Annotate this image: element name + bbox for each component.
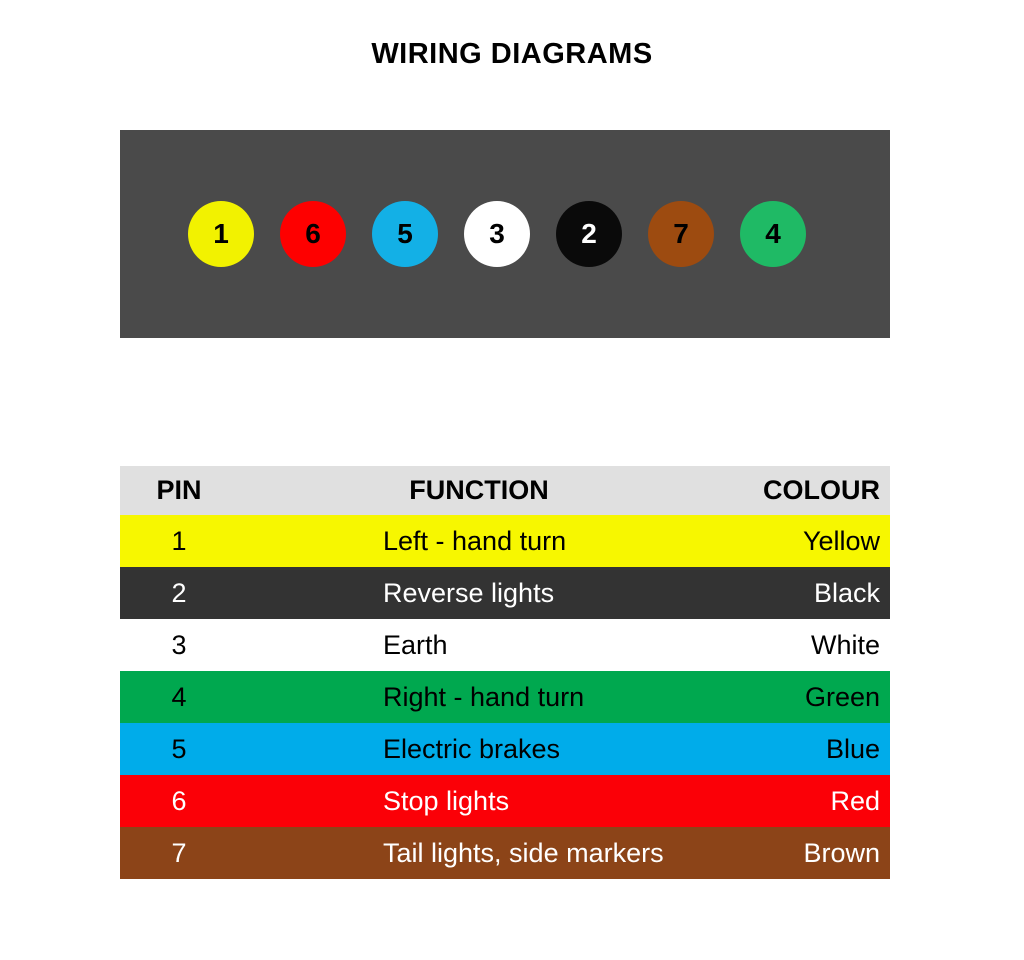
pin-circle-1[interactable]: 1 xyxy=(188,201,254,267)
cell-pin: 6 xyxy=(120,775,238,827)
pin-circle-5[interactable]: 5 xyxy=(372,201,438,267)
table-body: 1Left - hand turnYellow2Reverse lightsBl… xyxy=(120,515,890,879)
cell-function: Tail lights, side markers xyxy=(238,827,720,879)
page-title: WIRING DIAGRAMS xyxy=(0,38,1024,71)
pin-circle-4[interactable]: 4 xyxy=(740,201,806,267)
pin-circle-row: 1653274 xyxy=(120,130,890,338)
connector-diagram-panel: 1653274 xyxy=(120,130,890,338)
pin-circle-label: 6 xyxy=(305,220,321,248)
pin-function-table: PIN FUNCTION COLOUR 1Left - hand turnYel… xyxy=(120,466,890,879)
column-header-colour: COLOUR xyxy=(720,466,890,515)
pin-circle-6[interactable]: 6 xyxy=(280,201,346,267)
cell-colour: Yellow xyxy=(720,515,890,567)
pin-circle-label: 1 xyxy=(213,220,229,248)
table-row: 7Tail lights, side markersBrown xyxy=(120,827,890,879)
cell-function: Reverse lights xyxy=(238,567,720,619)
table-row: 2Reverse lightsBlack xyxy=(120,567,890,619)
table-row: 4Right - hand turnGreen xyxy=(120,671,890,723)
cell-pin: 3 xyxy=(120,619,238,671)
cell-pin: 2 xyxy=(120,567,238,619)
pin-circle-2[interactable]: 2 xyxy=(556,201,622,267)
cell-pin: 7 xyxy=(120,827,238,879)
table-row: 6Stop lightsRed xyxy=(120,775,890,827)
cell-function: Left - hand turn xyxy=(238,515,720,567)
cell-pin: 1 xyxy=(120,515,238,567)
pin-circle-label: 2 xyxy=(581,220,597,248)
pin-circle-label: 3 xyxy=(489,220,505,248)
pin-circle-label: 5 xyxy=(397,220,413,248)
cell-colour: Red xyxy=(720,775,890,827)
pin-circle-label: 4 xyxy=(765,220,781,248)
cell-function: Earth xyxy=(238,619,720,671)
cell-function: Electric brakes xyxy=(238,723,720,775)
cell-colour: Brown xyxy=(720,827,890,879)
table-row: 5Electric brakesBlue xyxy=(120,723,890,775)
pin-circle-3[interactable]: 3 xyxy=(464,201,530,267)
cell-pin: 5 xyxy=(120,723,238,775)
cell-pin: 4 xyxy=(120,671,238,723)
column-header-function: FUNCTION xyxy=(238,466,720,515)
table-row: 3EarthWhite xyxy=(120,619,890,671)
column-header-pin: PIN xyxy=(120,466,238,515)
cell-colour: Black xyxy=(720,567,890,619)
pin-circle-label: 7 xyxy=(673,220,689,248)
cell-colour: Blue xyxy=(720,723,890,775)
pin-circle-7[interactable]: 7 xyxy=(648,201,714,267)
table-row: 1Left - hand turnYellow xyxy=(120,515,890,567)
cell-function: Right - hand turn xyxy=(238,671,720,723)
table-header-row: PIN FUNCTION COLOUR xyxy=(120,466,890,515)
cell-function: Stop lights xyxy=(238,775,720,827)
cell-colour: Green xyxy=(720,671,890,723)
cell-colour: White xyxy=(720,619,890,671)
